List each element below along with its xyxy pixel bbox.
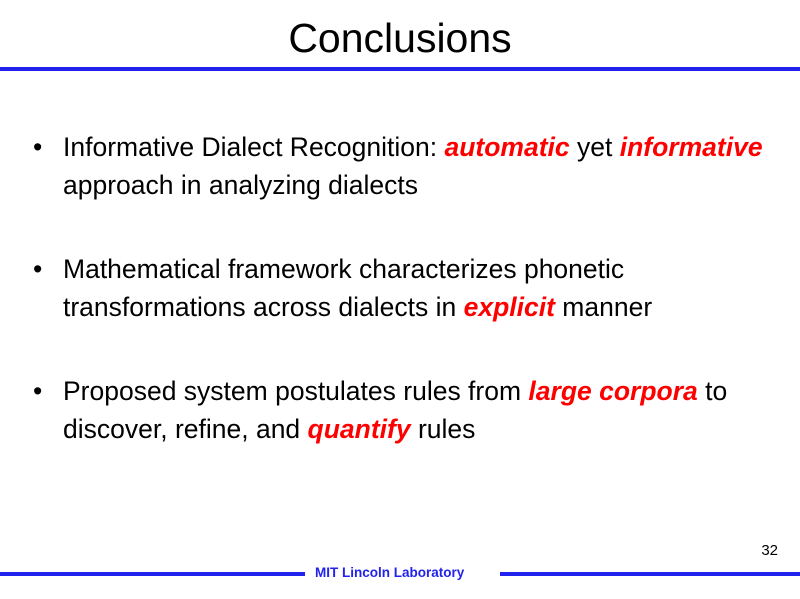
emphasis-text: automatic — [444, 132, 569, 162]
title-divider — [0, 67, 800, 71]
list-item-text: Informative Dialect Recognition: automat… — [63, 128, 763, 204]
bullet-dot-icon: • — [33, 372, 42, 410]
footer-rule-right — [500, 572, 800, 576]
footer: MIT Lincoln Laboratory — [0, 563, 800, 587]
footer-label: MIT Lincoln Laboratory — [315, 563, 464, 583]
bullet-list: •Informative Dialect Recognition: automa… — [0, 128, 800, 448]
bullet-dot-icon: • — [33, 250, 42, 288]
plain-text: Informative Dialect Recognition: — [63, 132, 444, 162]
page-number: 32 — [761, 542, 778, 560]
emphasis-text: informative — [620, 132, 763, 162]
plain-text: approach in analyzing dialects — [63, 170, 418, 200]
list-item: •Mathematical framework characterizes ph… — [0, 250, 763, 326]
plain-text: yet — [570, 132, 620, 162]
emphasis-text: quantify — [308, 414, 411, 444]
emphasis-text: explicit — [464, 292, 555, 322]
slide: Conclusions •Informative Dialect Recogni… — [0, 0, 800, 599]
page-title: Conclusions — [0, 14, 800, 62]
list-item: •Proposed system postulates rules from l… — [0, 372, 763, 448]
footer-rule-left — [0, 572, 305, 576]
plain-text: rules — [411, 414, 476, 444]
list-item-text: Proposed system postulates rules from la… — [63, 372, 763, 448]
plain-text: manner — [555, 292, 652, 322]
bullet-dot-icon: • — [33, 128, 42, 166]
list-item: •Informative Dialect Recognition: automa… — [0, 128, 763, 204]
list-item-text: Mathematical framework characterizes pho… — [63, 250, 763, 326]
emphasis-text: large corpora — [528, 376, 697, 406]
plain-text: Proposed system postulates rules from — [63, 376, 528, 406]
